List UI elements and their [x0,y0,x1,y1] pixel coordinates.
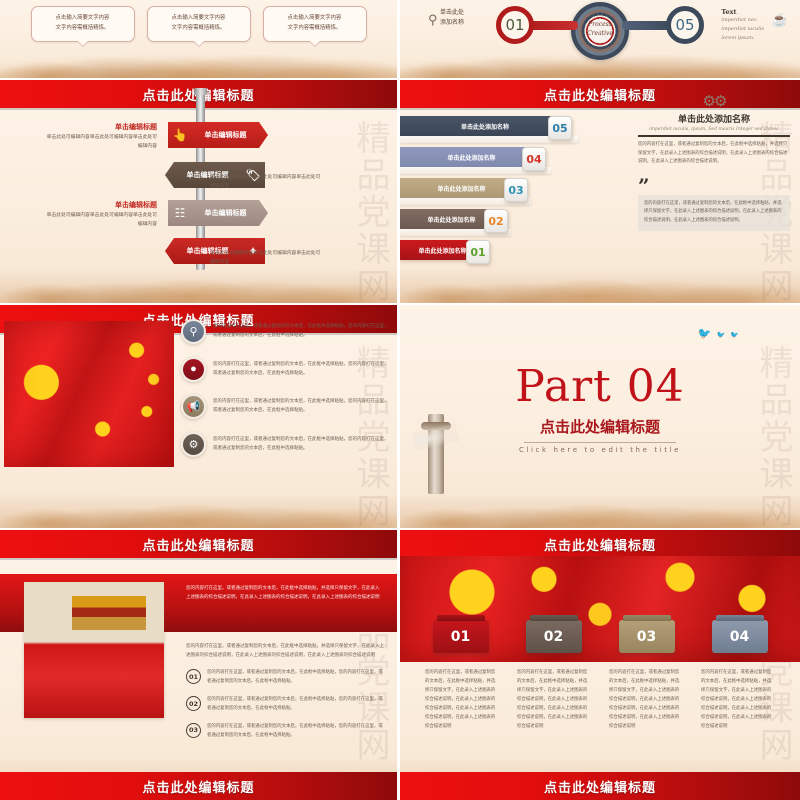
badge-01[interactable]: 01 [466,240,490,264]
tab-description-columns: 您的内容打在这里，或者通过复制您的文本后，在此框中选择粘贴，并选择只保留文字，在… [400,668,800,731]
left-caption-line-2: 添加名称 [440,18,464,28]
node-01[interactable]: 01 [496,6,534,44]
band-text: 您的内容打在这里，或者通过复制您的文本后，在此框中选择粘贴，并选择只保留文字，在… [186,584,382,602]
bubble-row: 点击输入简要文字内容 文字内容需概括精炼。 点击输入简要文字内容 文字内容需概括… [0,6,397,42]
bubble-line-2: 文字内容需概括精炼。 [172,25,226,31]
sign-block-body: 单击此处可编辑内容单击此处可编辑内容单击此处可编辑内容 [42,212,157,230]
circular-process-diagram: ⚲ 单击此处 添加名称 Process Creative 01 05 Text … [400,0,800,78]
numbered-item[interactable]: 03 您的内容打在这里，或者通过复制您的文本后，在此框中选择粘贴，您的内容打在这… [186,723,386,741]
right-sub-2: imperdiet iaculis [721,25,764,34]
sign-block-title: 单击编辑标题 [42,200,157,210]
list-item-text: 您的内容打在这里，或者通过复制您的文本后，在此框中选择粘贴，您的内容打在这里，或… [213,432,391,453]
left-caption-line-1: 单击此处 [440,8,464,18]
cup-icon: ☕ [772,12,788,28]
stair-row[interactable]: 单击此处添加名称 04 [400,147,615,178]
tiananmen-flag-photo [24,582,164,718]
right-sub-1: imperdiet nec, [721,16,764,25]
list-item-text: 您的内容打在这里，或者通过复制您的文本后，在此框中选择粘贴，您的内容打在这里，或… [213,394,391,415]
gears-icon: ⚙⚙ [638,92,790,110]
bubble-line-2: 文字内容需概括精炼。 [288,25,342,31]
center-line-1: Process [587,20,613,29]
tab-01[interactable]: 01 [433,620,489,653]
right-info-panel: ⚙⚙ 单击此处添加名称 imperdiet iaculis, ipsum, Se… [638,92,790,231]
sign-block-title: 单击编辑标题 [42,122,157,132]
center-line-2: Creative [587,29,613,38]
cursor-click-icon: 👆 [168,128,192,142]
footer-title: 点击此处编辑标题 [142,777,254,796]
search-icon: ⚲ [428,12,438,28]
sign-block-title: 单击编辑标题 [210,238,325,248]
number-badge-03: 03 [186,723,201,738]
tab-description-02: 您的内容打在这里，或者通过复制您的文本后，在此框中选择粘贴，并选择只保留文字，在… [517,668,591,731]
sign-label: 单击编辑标题 [192,130,259,140]
numbered-item-text: 您的内容打在这里，或者通过复制您的文本后，在此框中选择粘贴，您的内容打在这里，或… [207,723,386,741]
slide-2-left-signpost[interactable]: 点击此处编辑标题 精品党课网 单击编辑标题 单击此处可编辑内容单击此处可编辑内容… [0,80,397,303]
node-05[interactable]: 05 [666,6,704,44]
slide-1-left-bubbles[interactable]: 点击输入简要文字内容 文字内容需概括精炼。 点击输入简要文字内容 文字内容需概括… [0,0,397,78]
location-pin-icon: ● [181,357,206,382]
icon-bullet-list: ⚲ 您的内容打在这里，或者通过复制您的文本后，在此框中选择粘贴，您的内容打在这里… [181,319,391,469]
slide-1-right-process-circle[interactable]: ⚲ 单击此处 添加名称 Process Creative 01 05 Text … [400,0,800,78]
slide-title-bar: 点击此处编辑标题 [0,530,397,558]
tab-02[interactable]: 02 [526,620,582,653]
stair-row[interactable]: 单击此处添加名称 02 [400,209,615,240]
paragraph: 您的内容打在这里，或者通过复制您的文本后，在此框中选择粘贴，并选择只保留文字，在… [186,642,386,660]
quote-mark-icon: ” [638,179,790,193]
sign-block-body: 单击此处可编辑内容单击此处可编辑内容单击此处可编辑内容 [42,134,157,152]
list-item[interactable]: ⚲ 您的内容打在这里，或者通过复制您的文本后，在此框中选择粘贴，您的内容打在这里… [181,319,391,344]
badge-05[interactable]: 05 [548,116,572,140]
right-content: 您的内容打在这里，或者通过复制您的文本后，在此框中选择粘贴，并选择只保留文字，在… [186,642,386,740]
signpost-row-3: 单击编辑标题 单击此处可编辑内容单击此处可编辑内容单击此处可编辑内容 ☷ 单击编… [0,200,397,236]
slide-4-left-tiananmen[interactable]: 点击此处编辑标题 精品党课网 您的内容打在这里，或者通过复制您的文本后，在此框中… [0,530,397,800]
numbered-item-text: 您的内容打在这里，或者通过复制您的文本后，在此框中选择粘贴，您的内容打在这里，或… [207,669,386,687]
right-sub-3: lorem ipsum. [721,34,764,43]
slide-title-bar: 点击此处编辑标题 [400,530,800,558]
bar-label: 单击此处添加名称 [427,215,475,224]
slide-thumbnail-grid: 点击输入简要文字内容 文字内容需概括精炼。 点击输入简要文字内容 文字内容需概括… [0,0,800,800]
sign-label: 单击编辑标题 [192,208,259,218]
tab-description-01: 您的内容打在这里，或者通过复制您的文本后，在此框中选择粘贴，并选择只保留文字，在… [425,668,499,731]
number-badge-01: 01 [186,669,201,684]
slide-4-right-flag-tabs[interactable]: 点击此处编辑标题 精品党课网 01 02 03 04 您的内容打在这里，或者通过… [400,530,800,800]
bubble-line-1: 点击输入简要文字内容 [172,15,226,21]
section-divider-content: Part 04 点击此处编辑标题 Click here to edit the … [400,305,800,528]
bar-label: 单击此处添加名称 [447,153,495,162]
tab-description-04: 您的内容打在这里，或者通过复制您的文本后，在此框中选择粘贴，并选择只保留文字，在… [701,668,775,731]
search-icon: ⚲ [181,319,206,344]
quote-block: ” 您的内容打在这里，或者通过复制您的文本后，在此框中选择粘贴，并选择只保留文字… [638,179,790,231]
footer-title-bar: 点击此处编辑标题 [0,772,397,800]
bubble-line-1: 点击输入简要文字内容 [288,15,342,21]
stair-bar-05[interactable]: 单击此处添加名称 [400,116,570,136]
list-item[interactable]: 📢 您的内容打在这里，或者通过复制您的文本后，在此框中选择粘贴，您的内容打在这里… [181,394,391,419]
signpost-row-2: 🏷 单击编辑标题 单击编辑标题 单击此处可编辑内容单击此处可编辑内容单击此处可编… [0,162,397,198]
part-number: Part 04 [515,361,685,412]
part-title-cn: 点击此处编辑标题 [540,416,660,437]
staircase-chart: 单击此处添加名称 05 单击此处添加名称 04 单击此处添加名称 03 [400,116,615,271]
center-label: Process Creative [587,20,613,38]
badge-04[interactable]: 04 [522,147,546,171]
sign-text-block: 单击编辑标题 单击此处可编辑内容单击此处可编辑内容单击此处可编辑内容 [210,238,325,268]
numbered-item-text: 您的内容打在这里，或者通过复制您的文本后，在此框中选择粘贴，您的内容打在这里，或… [207,696,386,714]
left-caption: 单击此处 添加名称 [440,8,464,28]
stair-row[interactable]: 单击此处添加名称 03 [400,178,615,209]
panel-subheading: imperdiet iaculis, ipsum, Sed mauris Int… [638,127,790,132]
quote-body: 您的内容打在这里，或者通过复制您的文本后，在此框中选择粘贴，并选择只保留文字，在… [638,195,790,231]
signpost-arrow-3[interactable]: ☷ 单击编辑标题 [168,200,268,226]
number-badge-02: 02 [186,696,201,711]
list-item[interactable]: ⚙ 您的内容打在这里，或者通过复制您的文本后，在此框中选择粘贴，您的内容打在这里… [181,432,391,457]
right-caption: Text imperdiet nec, imperdiet iaculis lo… [721,8,764,43]
stair-row[interactable]: 单击此处添加名称 01 [400,240,615,271]
sign-block-title: 单击编辑标题 [210,162,325,172]
panel-body: 您的内容打在这里，或者通过复制您的文本后，在此框中选择粘贴，并选择只保留文字，在… [638,141,790,167]
right-heading: Text [721,8,764,16]
list-item-text: 您的内容打在这里，或者通过复制您的文本后，在此框中选择粘贴，您的内容打在这里，或… [213,319,391,340]
slide-3-right-section-divider[interactable]: 精品党课网 🐦🐦🐦 Part 04 点击此处编辑标题 Click here to… [400,305,800,528]
divider [638,135,790,137]
numbered-item[interactable]: 02 您的内容打在这里，或者通过复制您的文本后，在此框中选择粘贴，您的内容打在这… [186,696,386,714]
bar-label: 单击此处添加名称 [437,184,485,193]
divider [524,442,676,443]
tab-description-03: 您的内容打在这里，或者通过复制您的文本后，在此框中选择粘贴，并选择只保留文字，在… [609,668,683,731]
numbered-item[interactable]: 01 您的内容打在这里，或者通过复制您的文本后，在此框中选择粘贴，您的内容打在这… [186,669,386,687]
sign-block-body: 单击此处可编辑内容单击此处可编辑内容单击此处可编辑内容 [210,174,325,192]
list-item-text: 您的内容打在这里，或者通过复制您的文本后，在此框中选择粘贴，您的内容打在这里，或… [213,357,391,378]
tab-04[interactable]: 04 [712,620,768,653]
speech-bubble[interactable]: 点击输入简要文字内容 文字内容需概括精炼。 [31,6,135,42]
footer-title-bar: 点击此处编辑标题 [400,772,800,800]
numbered-tab-row: 01 02 03 04 [400,620,800,653]
speech-bubble[interactable]: 点击输入简要文字内容 文字内容需概括精炼。 [147,6,251,42]
ink-mountain-decor [0,42,397,78]
sign-text-block: 单击编辑标题 单击此处可编辑内容单击此处可编辑内容单击此处可编辑内容 [210,162,325,192]
page-title: 点击此处编辑标题 [544,535,656,554]
sign-text-block: 单击编辑标题 单击此处可编辑内容单击此处可编辑内容单击此处可编辑内容 [42,200,157,230]
slide-2-right-staircase[interactable]: 点击此处编辑标题 精品党课网 单击此处添加名称 05 单击此处添加名称 04 [400,80,800,303]
slide-3-left-flag-list[interactable]: 点击此处编辑标题 精品党课网 ⚲ 您的内容打在这里，或者通过复制您的文本后，在此… [0,305,397,528]
bar-label: 单击此处添加名称 [461,122,509,131]
signpost-row-4: ✦ 单击编辑标题 单击编辑标题 单击此处可编辑内容单击此处可编辑内容单击此处可编… [0,238,397,274]
speech-bubble[interactable]: 点击输入简要文字内容 文字内容需概括精炼。 [263,6,367,42]
tiananmen-roof [72,596,146,630]
gear-icon: ⚙ [181,432,206,457]
org-chart-icon: ☷ [168,206,192,220]
bubble-line-1: 点击输入简要文字内容 [56,15,110,21]
page-title: 点击此处编辑标题 [142,535,254,554]
footer-title: 点击此处编辑标题 [544,777,656,796]
stair-row[interactable]: 单击此处添加名称 05 [400,116,615,147]
megaphone-icon: 📢 [181,394,206,419]
signpost-arrow-1[interactable]: 👆 单击编辑标题 [168,122,268,148]
bubble-line-2: 文字内容需概括精炼。 [56,25,110,31]
sign-block-body: 单击此处可编辑内容单击此处可编辑内容单击此处可编辑内容 [210,250,325,268]
list-item[interactable]: ● 您的内容打在这里，或者通过复制您的文本后，在此框中选择粘贴，您的内容打在这里… [181,357,391,382]
badge-02[interactable]: 02 [484,209,508,233]
badge-03[interactable]: 03 [504,178,528,202]
connector-right [622,21,672,30]
panel-heading: 单击此处添加名称 [638,112,790,125]
tab-03[interactable]: 03 [619,620,675,653]
part-title-en: Click here to edit the title [519,446,681,454]
sign-text-block: 单击编辑标题 单击此处可编辑内容单击此处可编辑内容单击此处可编辑内容 [42,122,157,152]
connector-left [528,21,578,30]
chinese-flag-photo [4,321,174,467]
signpost-row-1: 单击编辑标题 单击此处可编辑内容单击此处可编辑内容单击此处可编辑内容 👆 单击编… [0,122,397,158]
bar-label: 单击此处添加名称 [418,246,466,255]
